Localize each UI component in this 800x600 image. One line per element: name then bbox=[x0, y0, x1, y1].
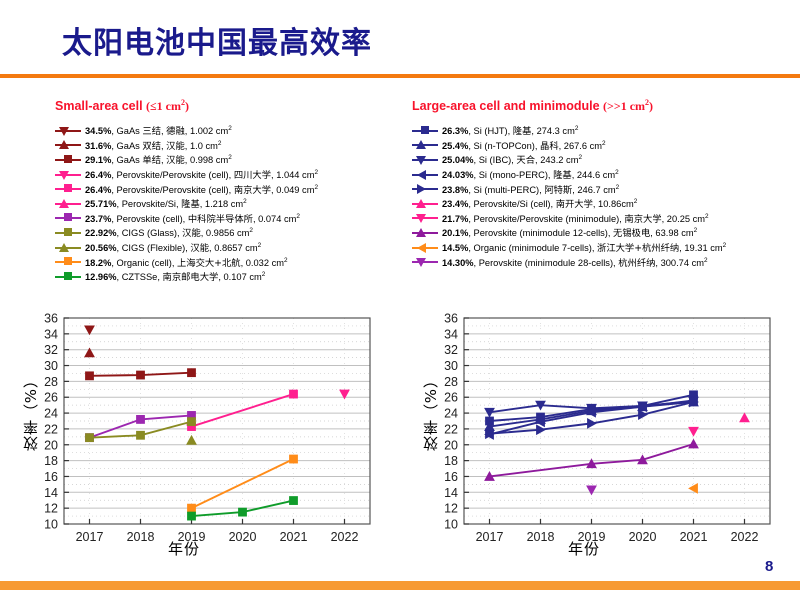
legend-key bbox=[412, 197, 438, 210]
series-9 bbox=[586, 486, 597, 496]
legend-item-label: 20.56%, CIGS (Flexible), 汉能, 0.8657 cm2 bbox=[85, 240, 261, 254]
legend-key bbox=[55, 182, 81, 195]
series-8 bbox=[186, 435, 197, 445]
legend-key bbox=[55, 138, 81, 151]
svg-text:18: 18 bbox=[444, 454, 458, 468]
legend-right-heading-tail: ) bbox=[649, 99, 653, 113]
chart-left-plot: 1012141618202224262830323436201720182019… bbox=[18, 312, 378, 562]
svg-text:36: 36 bbox=[44, 312, 58, 326]
svg-text:20: 20 bbox=[444, 438, 458, 452]
svg-text:14: 14 bbox=[444, 486, 458, 500]
legend-item-label: 21.7%, Perovskite/Perovskite (minimodule… bbox=[442, 211, 709, 225]
legend-key bbox=[55, 211, 81, 224]
legend-right-heading: Large-area cell and minimodule (>>1 cm2) bbox=[412, 98, 797, 114]
legend-item-right-1[interactable]: 25.4%, Si (n-TOPCon), 晶科, 267.6 cm2 bbox=[412, 138, 797, 153]
legend-item-left-7[interactable]: 22.92%, CIGS (Glass), 汉能, 0.9856 cm2 bbox=[55, 225, 405, 240]
legend-item-right-8[interactable]: 14.5%, Organic (minimodule 7-cells), 浙江大… bbox=[412, 240, 797, 255]
legend-key bbox=[55, 197, 81, 210]
svg-text:22: 22 bbox=[444, 422, 458, 436]
legend-item-right-0[interactable]: 26.3%, Si (HJT), 隆基, 274.3 cm2 bbox=[412, 123, 797, 138]
legend-item-label: 23.7%, Perovskite (cell), 中科院半导体所, 0.074… bbox=[85, 211, 300, 225]
legend-key bbox=[55, 124, 81, 137]
legend-item-left-10[interactable]: 12.96%, CZTSSe, 南京邮电大学, 0.107 cm2 bbox=[55, 269, 405, 284]
legend-marker-triangle-up bbox=[416, 199, 426, 208]
svg-text:2021: 2021 bbox=[280, 530, 308, 544]
svg-text:26: 26 bbox=[44, 391, 58, 405]
legend-item-label: 14.5%, Organic (minimodule 7-cells), 浙江大… bbox=[442, 240, 726, 254]
legend-item-label: 34.5%, GaAs 三结, 德融, 1.002 cm2 bbox=[85, 123, 232, 137]
legend-item-label: 24.03%, Si (mono-PERC), 隆基, 244.6 cm2 bbox=[442, 167, 619, 181]
legend-item-left-4[interactable]: 26.4%, Perovskite/Perovskite (cell), 南京大… bbox=[55, 181, 405, 196]
svg-text:32: 32 bbox=[444, 343, 458, 357]
chart-right-ylabel: 效率（%） bbox=[420, 372, 441, 451]
legend-item-left-6[interactable]: 23.7%, Perovskite (cell), 中科院半导体所, 0.074… bbox=[55, 211, 405, 226]
svg-text:34: 34 bbox=[444, 327, 458, 341]
legend-item-right-7[interactable]: 20.1%, Perovskite (minimodule 12-cells),… bbox=[412, 225, 797, 240]
series-5 bbox=[739, 412, 750, 422]
legend-key bbox=[412, 153, 438, 166]
chart-small-area-cell: 效率（%） 年份 1012141618202224262830323436201… bbox=[18, 312, 378, 562]
legend-key bbox=[412, 255, 438, 268]
svg-text:20: 20 bbox=[44, 438, 58, 452]
legend-item-right-4[interactable]: 23.8%, Si (multi-PERC), 阿特斯, 246.7 cm2 bbox=[412, 181, 797, 196]
legend-key bbox=[55, 168, 81, 181]
legend-marker-triangle-up bbox=[59, 199, 69, 208]
svg-text:10: 10 bbox=[44, 518, 58, 532]
svg-text:28: 28 bbox=[444, 375, 458, 389]
chart-right-plot: 1012141618202224262830323436201720182019… bbox=[418, 312, 778, 562]
legend-item-label: 14.30%, Perovskite (minimodule 28-cells)… bbox=[442, 255, 708, 269]
svg-text:30: 30 bbox=[44, 359, 58, 373]
series-2 bbox=[85, 368, 196, 380]
legend-key bbox=[412, 168, 438, 181]
legend-marker-triangle-down bbox=[416, 156, 426, 165]
legend-item-label: 25.04%, Si (IBC), 天合, 243.2 cm2 bbox=[442, 152, 582, 166]
legend-item-label: 31.6%, GaAs 双结, 汉能, 1.0 cm2 bbox=[85, 138, 221, 152]
svg-text:2018: 2018 bbox=[527, 530, 555, 544]
legend-key bbox=[55, 270, 81, 283]
legend-item-label: 20.1%, Perovskite (minimodule 12-cells),… bbox=[442, 225, 697, 239]
legend-marker-square bbox=[64, 184, 72, 192]
legend-marker-triangle-up bbox=[416, 228, 426, 237]
chart-left-xlabel: 年份 bbox=[168, 538, 200, 559]
legend-item-left-1[interactable]: 31.6%, GaAs 双结, 汉能, 1.0 cm2 bbox=[55, 138, 405, 153]
footer-bar bbox=[0, 581, 800, 590]
legend-marker-triangle-up bbox=[59, 243, 69, 252]
svg-text:2020: 2020 bbox=[229, 530, 257, 544]
svg-text:2022: 2022 bbox=[331, 530, 359, 544]
legend-right-heading-main: Large-area cell and minimodule bbox=[412, 99, 600, 113]
legend-key bbox=[412, 182, 438, 195]
legend-marker-square bbox=[421, 126, 429, 134]
legend-item-left-2[interactable]: 29.1%, GaAs 单结, 汉能, 0.998 cm2 bbox=[55, 152, 405, 167]
page-title: 太阳电池中国最高效率 bbox=[62, 18, 372, 62]
legend-item-right-9[interactable]: 14.30%, Perovskite (minimodule 28-cells)… bbox=[412, 254, 797, 269]
svg-text:2017: 2017 bbox=[76, 530, 104, 544]
svg-text:10: 10 bbox=[444, 518, 458, 532]
legend-marker-triangle-down bbox=[59, 127, 69, 136]
legend-key bbox=[55, 241, 81, 254]
legend-marker-triangle-right bbox=[417, 184, 426, 194]
legend-marker-triangle-left bbox=[417, 170, 426, 180]
legend-left-heading-main: Small-area cell bbox=[55, 99, 143, 113]
legend-item-label: 18.2%, Organic (cell), 上海交大+北航, 0.032 cm… bbox=[85, 255, 288, 269]
legend-marker-square bbox=[64, 272, 72, 280]
svg-text:14: 14 bbox=[44, 486, 58, 500]
svg-text:36: 36 bbox=[444, 312, 458, 326]
svg-text:30: 30 bbox=[444, 359, 458, 373]
legend-item-left-9[interactable]: 18.2%, Organic (cell), 上海交大+北航, 0.032 cm… bbox=[55, 254, 405, 269]
legend-item-left-0[interactable]: 34.5%, GaAs 三结, 德融, 1.002 cm2 bbox=[55, 123, 405, 138]
svg-text:24: 24 bbox=[444, 407, 458, 421]
series-6 bbox=[688, 427, 699, 437]
legend-left-heading-tail: ) bbox=[185, 99, 189, 113]
svg-text:2021: 2021 bbox=[680, 530, 708, 544]
legend-marker-square bbox=[64, 155, 72, 163]
legend-item-right-2[interactable]: 25.04%, Si (IBC), 天合, 243.2 cm2 bbox=[412, 152, 797, 167]
legend-item-left-3[interactable]: 26.4%, Perovskite/Perovskite (cell), 四川大… bbox=[55, 167, 405, 182]
page-number: 8 bbox=[765, 558, 773, 575]
chart-left-ylabel: 效率（%） bbox=[20, 372, 41, 451]
svg-text:22: 22 bbox=[44, 422, 58, 436]
title-divider bbox=[0, 74, 800, 78]
svg-text:26: 26 bbox=[444, 391, 458, 405]
legend-key bbox=[55, 226, 81, 239]
svg-text:34: 34 bbox=[44, 327, 58, 341]
svg-text:2018: 2018 bbox=[127, 530, 155, 544]
svg-text:32: 32 bbox=[44, 343, 58, 357]
svg-text:12: 12 bbox=[44, 502, 58, 516]
legend-large-area-cell-minimodule: Large-area cell and minimodule (>>1 cm2)… bbox=[412, 98, 797, 269]
legend-item-label: 12.96%, CZTSSe, 南京邮电大学, 0.107 cm2 bbox=[85, 269, 265, 283]
legend-key bbox=[412, 241, 438, 254]
svg-text:28: 28 bbox=[44, 375, 58, 389]
series-3 bbox=[339, 390, 350, 400]
svg-text:2020: 2020 bbox=[629, 530, 657, 544]
legend-item-right-3[interactable]: 24.03%, Si (mono-PERC), 隆基, 244.6 cm2 bbox=[412, 167, 797, 182]
legend-marker-triangle-up bbox=[416, 140, 426, 149]
legend-item-label: 26.4%, Perovskite/Perovskite (cell), 南京大… bbox=[85, 182, 318, 196]
legend-right-heading-note: (>>1 cm bbox=[603, 99, 645, 113]
legend-item-left-5[interactable]: 25.71%, Perovskite/Si, 隆基, 1.218 cm2 bbox=[55, 196, 405, 211]
legend-marker-square bbox=[64, 257, 72, 265]
svg-text:18: 18 bbox=[44, 454, 58, 468]
legend-item-label: 23.4%, Perovskite/Si (cell), 南开大学, 10.86… bbox=[442, 196, 637, 210]
legend-marker-triangle-up bbox=[59, 140, 69, 149]
series-4 bbox=[187, 390, 298, 431]
legend-item-label: 29.1%, GaAs 单结, 汉能, 0.998 cm2 bbox=[85, 152, 232, 166]
legend-key bbox=[412, 211, 438, 224]
legend-item-label: 26.3%, Si (HJT), 隆基, 274.3 cm2 bbox=[442, 123, 578, 137]
legend-item-label: 26.4%, Perovskite/Perovskite (cell), 四川大… bbox=[85, 167, 318, 181]
legend-marker-triangle-left bbox=[417, 243, 426, 253]
legend-item-label: 23.8%, Si (multi-PERC), 阿特斯, 246.7 cm2 bbox=[442, 182, 619, 196]
legend-item-label: 22.92%, CIGS (Glass), 汉能, 0.9856 cm2 bbox=[85, 225, 253, 239]
legend-key bbox=[412, 226, 438, 239]
svg-text:2017: 2017 bbox=[476, 530, 504, 544]
legend-item-right-5[interactable]: 23.4%, Perovskite/Si (cell), 南开大学, 10.86… bbox=[412, 196, 797, 211]
legend-left-heading: Small-area cell (≤1 cm2) bbox=[55, 98, 405, 114]
svg-text:2022: 2022 bbox=[731, 530, 759, 544]
legend-marker-triangle-down bbox=[416, 214, 426, 223]
svg-text:12: 12 bbox=[444, 502, 458, 516]
legend-key bbox=[55, 255, 81, 268]
svg-text:24: 24 bbox=[44, 407, 58, 421]
legend-key bbox=[412, 124, 438, 137]
legend-item-label: 25.71%, Perovskite/Si, 隆基, 1.218 cm2 bbox=[85, 196, 247, 210]
chart-large-area-cell-minimodule: 效率（%） 年份 1012141618202224262830323436201… bbox=[418, 312, 778, 562]
legend-item-right-6[interactable]: 21.7%, Perovskite/Perovskite (minimodule… bbox=[412, 211, 797, 226]
legend-small-area-cell: Small-area cell (≤1 cm2) 34.5%, GaAs 三结,… bbox=[55, 98, 405, 284]
series-1 bbox=[84, 347, 95, 357]
chart-right-xlabel: 年份 bbox=[568, 538, 600, 559]
legend-key bbox=[55, 153, 81, 166]
legend-marker-square bbox=[64, 228, 72, 236]
legend-left-heading-note: (≤1 cm bbox=[146, 99, 181, 113]
legend-item-left-8[interactable]: 20.56%, CIGS (Flexible), 汉能, 0.8657 cm2 bbox=[55, 240, 405, 255]
svg-text:16: 16 bbox=[444, 470, 458, 484]
legend-marker-triangle-down bbox=[59, 171, 69, 180]
svg-text:16: 16 bbox=[44, 470, 58, 484]
legend-item-label: 25.4%, Si (n-TOPCon), 晶科, 267.6 cm2 bbox=[442, 138, 606, 152]
legend-marker-triangle-down bbox=[416, 258, 426, 267]
legend-key bbox=[412, 138, 438, 151]
legend-marker-square bbox=[64, 213, 72, 221]
